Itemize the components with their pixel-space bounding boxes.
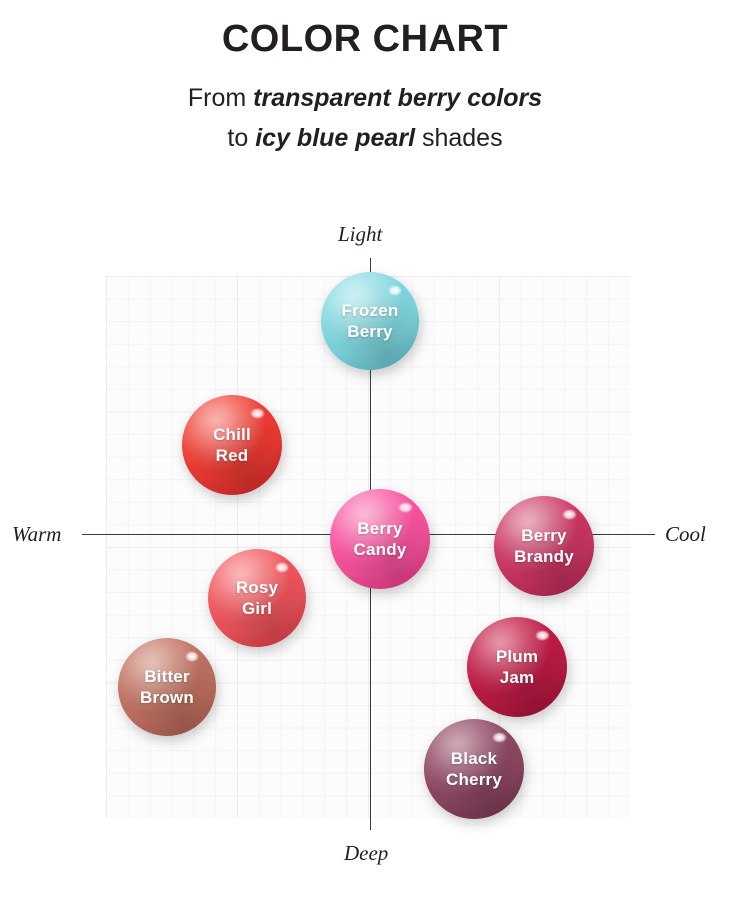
bubble-shading (118, 638, 216, 736)
axis-label-cool: Cool (665, 522, 706, 547)
color-bubble[interactable]: PlumJam (467, 617, 567, 717)
bubble-highlight (275, 562, 290, 573)
color-bubble[interactable]: RosyGirl (208, 549, 306, 647)
bubble-highlight (185, 651, 200, 662)
bubble-highlight (535, 630, 550, 641)
axis-label-light: Light (338, 222, 382, 247)
bubble-highlight (250, 408, 265, 419)
bubble-shading (321, 272, 419, 370)
axis-label-warm: Warm (12, 522, 61, 547)
bubble-shading (182, 395, 282, 495)
bubble-highlight (398, 502, 413, 513)
color-bubble[interactable]: BerryCandy (330, 489, 430, 589)
bubble-shading (330, 489, 430, 589)
color-bubble[interactable]: ChillRed (182, 395, 282, 495)
bubble-shading (494, 496, 594, 596)
axis-label-deep: Deep (344, 841, 388, 866)
color-bubble[interactable]: FrozenBerry (321, 272, 419, 370)
bubble-highlight (388, 285, 403, 296)
color-chart-plot: Light Deep Warm Cool FrozenBerryChillRed… (0, 0, 730, 908)
bubble-shading (467, 617, 567, 717)
color-bubble[interactable]: BlackCherry (424, 719, 524, 819)
bubble-shading (208, 549, 306, 647)
color-bubble[interactable]: BitterBrown (118, 638, 216, 736)
bubble-highlight (492, 732, 507, 743)
color-bubble[interactable]: BerryBrandy (494, 496, 594, 596)
bubble-highlight (562, 509, 577, 520)
bubble-shading (424, 719, 524, 819)
